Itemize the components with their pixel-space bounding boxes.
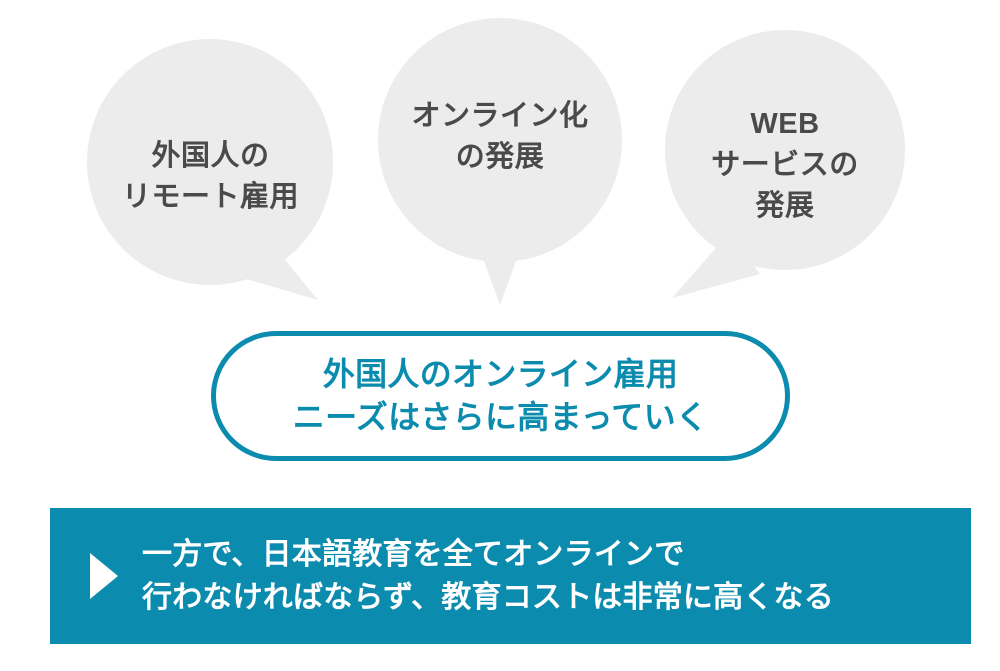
infographic-canvas: 外国人の リモート雇用 オンライン化 の発展 WEB サービスの 発展 外国人の… — [0, 0, 1000, 671]
caveat-banner-text: 一方で、日本語教育を全てオンラインで 行わなければならず、教育コストは非常に高く… — [142, 533, 834, 620]
bubble-label-foreign-remote-hiring: 外国人の リモート雇用 — [88, 136, 333, 218]
caveat-banner: 一方で、日本語教育を全てオンラインで 行わなければならず、教育コストは非常に高く… — [50, 508, 971, 644]
conclusion-callout: 外国人のオンライン雇用 ニーズはさらに高まっていく — [211, 331, 790, 461]
play-triangle-icon — [88, 552, 120, 600]
conclusion-text: 外国人のオンライン雇用 ニーズはさらに高まっていく — [293, 353, 708, 439]
bubble-label-web-service-growth: WEB サービスの 発展 — [665, 104, 905, 228]
bubble-label-online-growth: オンライン化 の発展 — [378, 96, 622, 178]
